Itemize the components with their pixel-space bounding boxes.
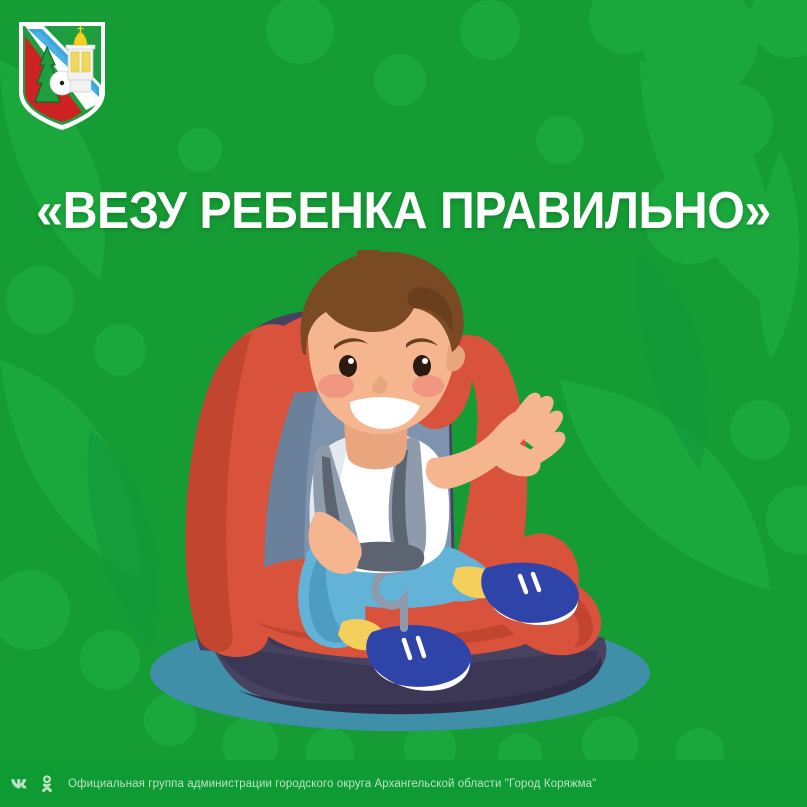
coat-of-arms-emblem bbox=[16, 20, 108, 130]
poster-root: «ВЕЗУ РЕБЕНКА ПРАВИЛЬНО» bbox=[0, 0, 807, 807]
page-title: «ВЕЗУ РЕБЕНКА ПРАВИЛЬНО» bbox=[28, 184, 779, 239]
child-in-car-seat-illustration bbox=[0, 250, 807, 760]
vk-icon[interactable] bbox=[10, 774, 30, 794]
odnoklassniki-icon[interactable] bbox=[37, 774, 57, 794]
footer-bar: Официальная группа администрации городск… bbox=[0, 760, 807, 807]
footer-text: Официальная группа администрации городск… bbox=[68, 778, 596, 790]
